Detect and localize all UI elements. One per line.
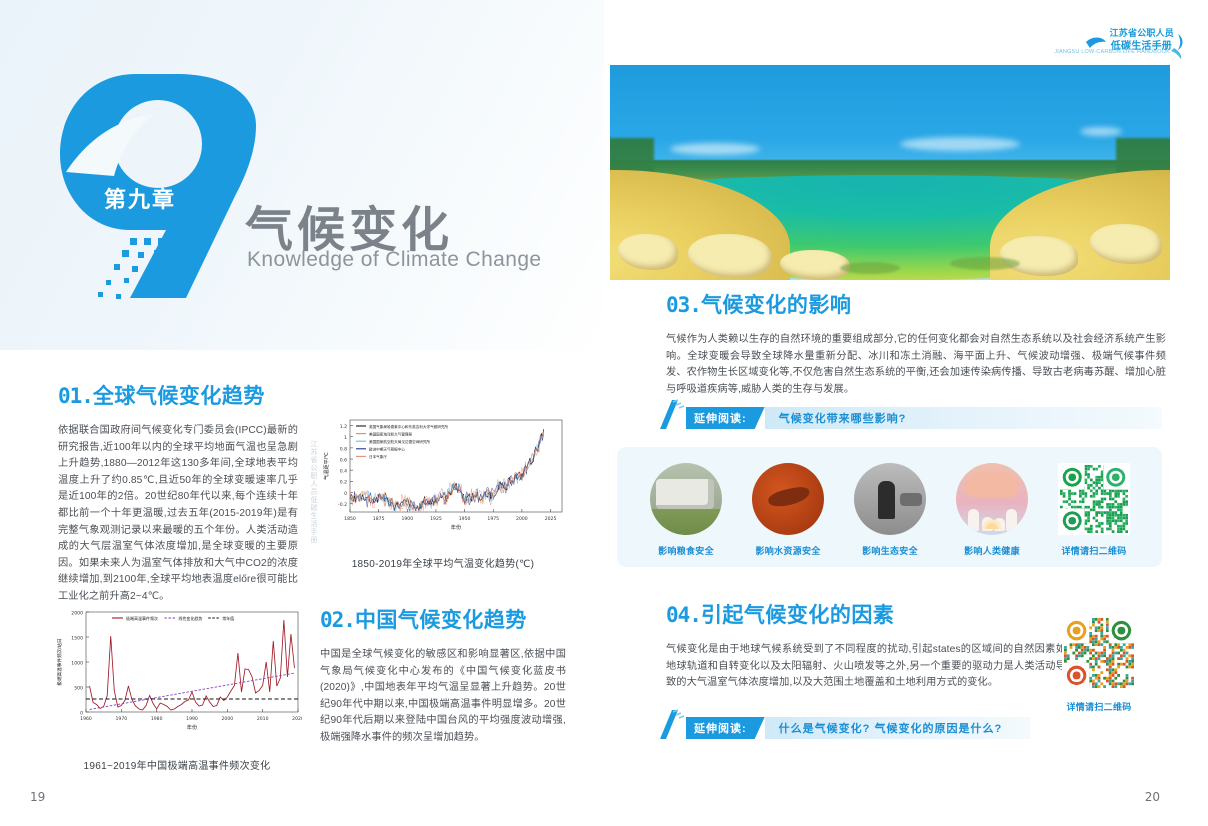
section-02-heading: 02.中国气候变化趋势 [320, 604, 566, 634]
svg-text:500: 500 [74, 685, 83, 691]
svg-text:1.2: 1.2 [340, 424, 347, 430]
svg-text:线性变化趋势: 线性变化趋势 [178, 615, 202, 621]
figure-global-temp-anomaly: -0.200.20.40.60.811.21850187519001925195… [320, 412, 566, 570]
section-01-body: 依据联合国政府间气候变化专门委员会(IPCC)最新的研究报告,近100年以内的全… [58, 423, 298, 606]
section-01-title: 全球气候变化趋势 [93, 385, 265, 408]
section-02: 02.中国气候变化趋势 中国是全球气候变化的敏感区和影响显著区,依据中国气象局气… [320, 604, 566, 747]
svg-text:2000: 2000 [221, 716, 233, 722]
impact-qr-caption: 详情请扫二维码 [1055, 544, 1133, 557]
figure-2-caption: 1961~2019年中国极端高温事件频次变化 [52, 757, 302, 772]
impact-card-eco[interactable]: 影响生态安全 [851, 463, 929, 557]
impact-card-health-image [956, 463, 1028, 535]
section-01-number: 01. [58, 384, 93, 408]
svg-text:1925: 1925 [430, 516, 442, 522]
svg-text:1950: 1950 [459, 516, 471, 522]
left-page: 第九章 气候变化 Knowledge of Climate Change 01.… [0, 0, 604, 826]
extended-reading-bar-2[interactable]: 延伸阅读: 什么是气候变化? 气候变化的原因是什么? [660, 717, 1030, 739]
family-silhouette-icon [966, 505, 1018, 531]
impact-card-eco-caption: 影响生态安全 [851, 544, 929, 557]
impact-card-water-image [752, 463, 824, 535]
svg-text:0.6: 0.6 [340, 457, 347, 463]
svg-text:1000: 1000 [71, 660, 83, 666]
section-03: 03.气候变化的影响 气候作为人类赖以生存的自然环境的重要组成部分,它的任何变化… [666, 289, 1166, 398]
photo-cloud [900, 137, 1020, 151]
page-number-left: 19 [30, 790, 45, 804]
impact-card-water[interactable]: 影响水资源安全 [749, 463, 827, 557]
factors-qr-block[interactable]: 详情请扫二维码 [1056, 618, 1142, 713]
svg-text:年份: 年份 [451, 523, 462, 531]
svg-text:1975: 1975 [487, 516, 499, 522]
impact-card-food-image [650, 463, 722, 535]
svg-text:英国气象局哈德莱中心和东英吉利大学气候研究所: 英国气象局哈德莱中心和东英吉利大学气候研究所 [369, 424, 448, 429]
svg-text:2025: 2025 [545, 516, 557, 522]
chapter-badge-label: 第九章 [104, 182, 176, 214]
svg-text:1875: 1875 [373, 516, 385, 522]
brand-logo: 江苏省公职人员 低碳生活手册 JIANGSU LOW-CARBON LIFE H… [1078, 26, 1186, 60]
section-04-heading: 04.引起气候变化的因素 [666, 599, 1066, 629]
svg-text:美国国家航空航天局戈达德空间研究所: 美国国家航空航天局戈达德空间研究所 [369, 439, 430, 444]
page-number-right: 20 [1145, 790, 1160, 804]
brand-line-3: JIANGSU LOW-CARBON LIFE HANDBOOK [1054, 49, 1170, 55]
section-02-number: 02. [320, 608, 355, 632]
impact-card-food[interactable]: 影响粮食安全 [647, 463, 725, 557]
reading-bar-2-label: 延伸阅读: [686, 717, 765, 739]
reading-flag-icon [660, 717, 686, 739]
photo-cloud [1080, 127, 1122, 136]
svg-text:美国国家海洋和大气管理局: 美国国家海洋和大气管理局 [369, 431, 413, 436]
svg-text:1900: 1900 [401, 516, 413, 522]
section-03-number: 03. [666, 293, 701, 317]
svg-text:1500: 1500 [71, 635, 83, 641]
impact-cards-panel: 影响粮食安全 影响水资源安全 影响生态安全 影响人类健康 [617, 447, 1162, 567]
svg-text:1990: 1990 [186, 716, 198, 722]
svg-text:1960: 1960 [80, 716, 92, 722]
photo-grass [840, 262, 900, 274]
section-04: 04.引起气候变化的因素 气候变化是由于地球气候系统受到了不同程度的扰动,引起s… [666, 599, 1066, 692]
impact-card-water-caption: 影响水资源安全 [749, 544, 827, 557]
photo-grass [950, 257, 1020, 270]
reading-bar-1-label: 延伸阅读: [686, 407, 765, 429]
figure-1-caption: 1850-2019年全球平均气温变化趋势(℃) [320, 555, 566, 570]
extended-reading-bar-1[interactable]: 延伸阅读: 气候变化带来哪些影响? [660, 407, 1162, 429]
section-04-title: 引起气候变化的因素 [701, 604, 895, 627]
factors-qr-caption: 详情请扫二维码 [1056, 700, 1142, 713]
svg-text:常年值: 常年值 [222, 615, 234, 621]
svg-text:2000: 2000 [516, 516, 528, 522]
svg-text:1: 1 [344, 435, 347, 441]
svg-text:日本气象厅: 日本气象厅 [369, 454, 387, 459]
figure-china-extreme-heat: 0500100015002000196019701980199020002010… [52, 604, 302, 772]
section-03-title: 气候变化的影响 [701, 294, 852, 317]
impact-card-eco-image [854, 463, 926, 535]
svg-text:1850: 1850 [344, 516, 356, 522]
china-heat-chart: 0500100015002000196019701980199020002010… [52, 604, 302, 752]
section-02-body: 中国是全球气候变化的敏感区和影响显著区,依据中国气象局气候变化中心发布的《中国气… [320, 647, 566, 747]
qr-code-color-icon[interactable] [1064, 618, 1134, 688]
svg-text:0.4: 0.4 [340, 469, 347, 475]
svg-text:年份: 年份 [187, 723, 198, 731]
section-01-heading: 01.全球气候变化趋势 [58, 380, 298, 410]
svg-text:1980: 1980 [151, 716, 163, 722]
section-01: 01.全球气候变化趋势 依据联合国政府间气候变化专门委员会(IPCC)最新的研究… [58, 380, 298, 606]
impact-card-health-caption: 影响人类健康 [953, 544, 1031, 557]
right-page: 江苏省公职人员 低碳生活手册 JIANGSU LOW-CARBON LIFE H… [604, 0, 1208, 826]
section-04-number: 04. [666, 603, 701, 627]
global-temp-chart: -0.200.20.40.60.811.21850187519001925195… [320, 412, 566, 550]
svg-text:2000: 2000 [71, 610, 83, 616]
svg-text:0: 0 [344, 491, 347, 497]
svg-text:极端高温事件频次: 极端高温事件频次 [126, 615, 158, 621]
svg-text:2020: 2020 [292, 716, 302, 722]
svg-text:-0.2: -0.2 [338, 502, 347, 508]
qr-code-green-icon[interactable] [1060, 465, 1128, 533]
svg-text:2010: 2010 [257, 716, 269, 722]
svg-text:气温距平/℃: 气温距平/℃ [322, 452, 330, 480]
page-watermark: 江苏省公职人员低碳生活手册 [300, 440, 318, 544]
impact-qr-block[interactable]: 详情请扫二维码 [1055, 463, 1133, 557]
reading-bar-2-question: 什么是气候变化? 气候变化的原因是什么? [765, 717, 1030, 739]
section-03-body: 气候作为人类赖以生存的自然环境的重要组成部分,它的任何变化都会对自然生态系统以及… [666, 332, 1166, 398]
lake-landscape-photo [610, 65, 1170, 280]
section-04-body: 气候变化是由于地球气候系统受到了不同程度的扰动,引起states的区域间的自然因… [666, 642, 1066, 692]
svg-text:极端高温事件频次/站日: 极端高温事件频次/站日 [56, 638, 63, 685]
photo-cloud [670, 143, 760, 155]
svg-text:1970: 1970 [115, 716, 127, 722]
svg-text:0.2: 0.2 [340, 480, 347, 486]
section-02-title: 中国气候变化趋势 [355, 609, 527, 632]
svg-text:0.8: 0.8 [340, 446, 347, 452]
chapter-title-en: Knowledge of Climate Change [247, 248, 541, 272]
section-03-heading: 03.气候变化的影响 [666, 289, 1166, 319]
svg-text:欧洲中期天气预报中心: 欧洲中期天气预报中心 [369, 447, 405, 452]
reading-flag-icon [660, 407, 686, 429]
reading-bar-1-question: 气候变化带来哪些影响? [765, 407, 1162, 429]
svg-text:0: 0 [80, 710, 83, 716]
impact-card-food-caption: 影响粮食安全 [647, 544, 725, 557]
impact-card-health[interactable]: 影响人类健康 [953, 463, 1031, 557]
